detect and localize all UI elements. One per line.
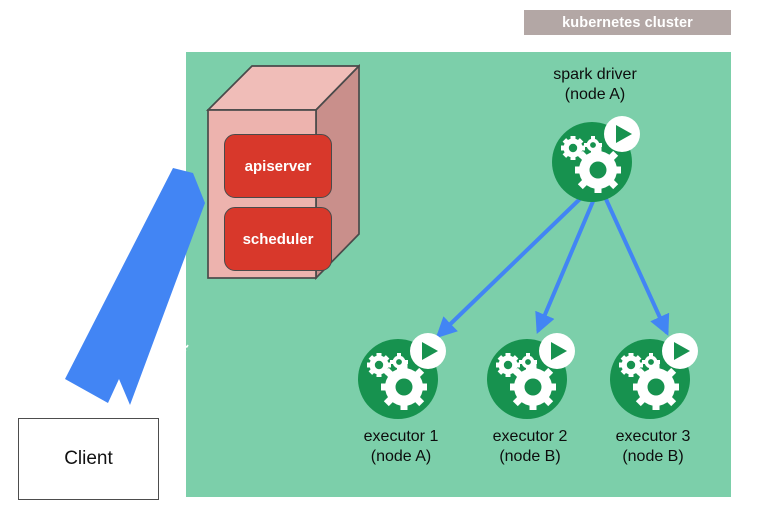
cluster-banner-label: kubernetes cluster <box>562 15 693 31</box>
spark-driver-node[interactable] <box>549 113 641 205</box>
diagram-canvas: kubernetes cluster apiserver scheduler s… <box>0 0 761 516</box>
spark-gears-play-icon <box>607 330 699 422</box>
client-box[interactable]: Client <box>18 418 159 500</box>
client-label: Client <box>64 448 113 470</box>
kubernetes-cluster-banner: kubernetes cluster <box>524 10 731 35</box>
scheduler-label: scheduler <box>243 231 314 248</box>
spark-submit-arrow: spark-submit <box>55 165 215 410</box>
spark-driver-name: spark driver <box>509 65 681 85</box>
executor-3-node-id: (node B) <box>567 447 739 467</box>
arrow-body <box>65 168 205 405</box>
spark-gears-play-icon <box>549 113 641 205</box>
executor-3-name: executor 3 <box>567 427 739 447</box>
control-plane-cube: apiserver scheduler <box>200 62 360 280</box>
executor-2-node[interactable] <box>484 330 576 422</box>
apiserver-label: apiserver <box>245 158 312 175</box>
executor-3-node[interactable] <box>607 330 699 422</box>
spark-submit-arrow-shape <box>55 165 215 410</box>
executor-1-node[interactable] <box>355 330 447 422</box>
apiserver-box[interactable]: apiserver <box>224 134 332 198</box>
spark-driver-caption: spark driver (node A) <box>509 65 681 105</box>
executor-3-caption: executor 3 (node B) <box>567 427 739 467</box>
spark-gears-play-icon <box>355 330 447 422</box>
spark-driver-node-id: (node A) <box>509 85 681 105</box>
spark-gears-play-icon <box>484 330 576 422</box>
scheduler-box[interactable]: scheduler <box>224 207 332 271</box>
